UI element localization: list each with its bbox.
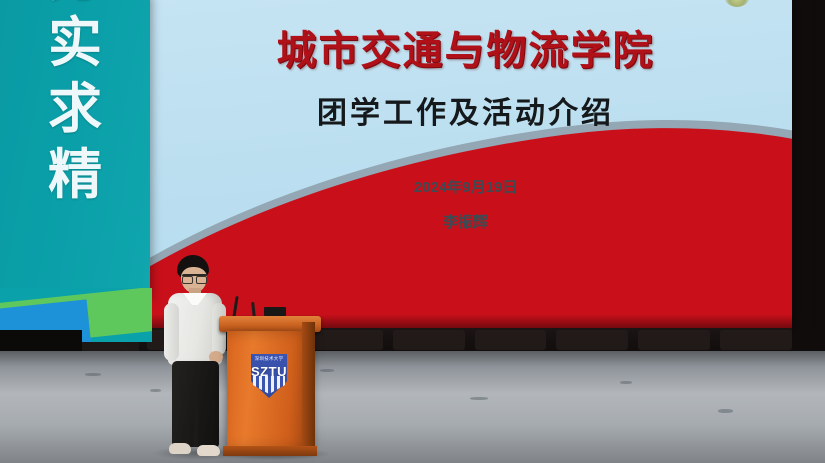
floor-speck xyxy=(470,397,488,400)
riser-block xyxy=(311,330,383,350)
podium-base xyxy=(223,446,317,456)
riser-block xyxy=(720,330,792,350)
glasses-icon xyxy=(182,274,207,283)
slide-title: 城市交通与物流学院 xyxy=(139,18,792,76)
banner-character-2: 精 xyxy=(0,142,150,208)
presenter-arm-left xyxy=(164,303,179,361)
shield-chinese-name: 深圳技术大学 xyxy=(251,356,287,362)
presenter-leg-gap xyxy=(194,395,198,447)
podium: 深圳技术大学 SZTU xyxy=(222,316,318,456)
projection-screen: 城市交通与物流学院 团学工作及活动介绍 2024年9月19日 李振辉 xyxy=(139,0,792,332)
banner-character-1: 求 xyxy=(0,76,150,142)
presenter-shoe-left xyxy=(169,443,191,454)
shield-stripes xyxy=(253,376,285,394)
stage-photo: 城市交通与物流学院 团学工作及活动介绍 2024年9月19日 李振辉 务 实 求… xyxy=(0,0,825,463)
presenter-shoe-right xyxy=(197,445,220,456)
podium-device xyxy=(264,307,286,316)
slide-presenter-name: 李振辉 xyxy=(139,211,792,232)
floor-speck xyxy=(85,373,101,376)
sztu-shield-icon: 深圳技术大学 SZTU xyxy=(251,354,287,398)
floor-speck xyxy=(718,409,733,413)
slide-subtitle: 团学工作及活动介绍 xyxy=(139,88,792,132)
riser-block xyxy=(556,330,628,350)
podium-side-panel xyxy=(302,322,315,450)
banner-characters: 务 实 求 精 xyxy=(0,0,150,208)
slide-text-block: 城市交通与物流学院 团学工作及活动介绍 2024年9月19日 李振辉 xyxy=(139,0,792,232)
floor-speck xyxy=(620,381,632,384)
riser-block xyxy=(638,330,710,350)
banner-character-partial: 务 xyxy=(0,0,150,10)
riser-block xyxy=(475,330,547,350)
left-vertical-banner: 务 实 求 精 xyxy=(0,0,150,300)
left-panel-shadow xyxy=(0,330,82,352)
stage-floor xyxy=(0,351,825,463)
riser-block xyxy=(393,330,465,350)
floor-speck xyxy=(150,389,161,392)
banner-character-0: 实 xyxy=(0,10,150,76)
floor-speck xyxy=(320,369,334,372)
slide-date: 2024年9月19日 xyxy=(139,176,792,197)
